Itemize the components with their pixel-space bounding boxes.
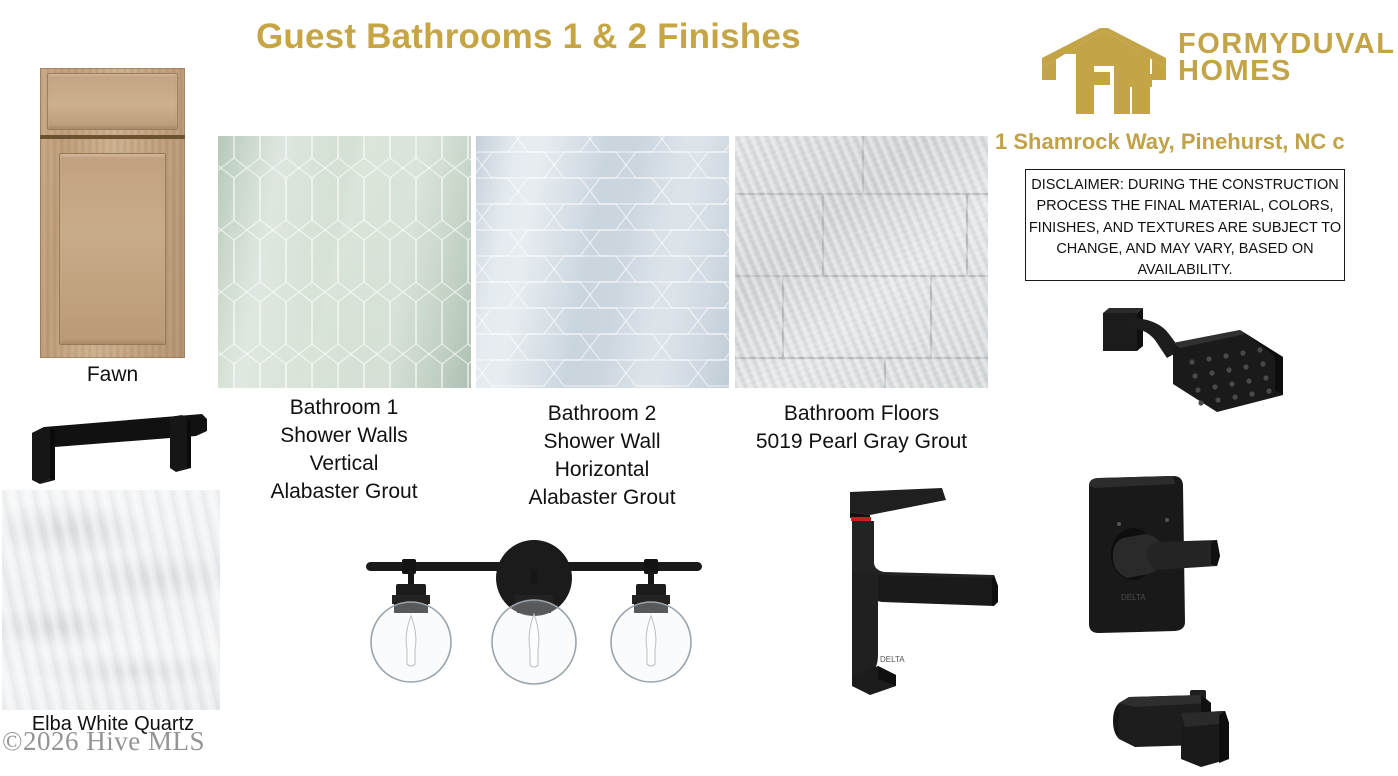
caption-line: Horizontal <box>492 456 712 484</box>
caption-line: Bathroom 1 <box>235 394 453 422</box>
cabinet-door-panel <box>59 153 166 345</box>
logo-line-1: FORMYDUVAL <box>1178 31 1395 58</box>
caption-line: Alabaster Grout <box>235 478 453 506</box>
floor-tile-caption: Bathroom Floors 5019 Pearl Gray Grout <box>740 400 983 456</box>
property-address: 1 Shamrock Way, Pinehurst, NC c <box>995 129 1398 155</box>
caption-line: Vertical <box>235 450 453 478</box>
gray-floor-tile-sample <box>735 136 988 388</box>
green-picket-tile-sample <box>218 136 471 388</box>
house-fh-logo-icon <box>1040 28 1168 116</box>
cabinet-label: Fawn <box>0 363 225 387</box>
cabinet-door-sample <box>40 68 185 358</box>
svg-text:DELTA: DELTA <box>880 655 905 664</box>
shower-valve-trim-fixture: DELTA <box>1075 472 1250 640</box>
logo-wordmark: FORMYDUVAL HOMES <box>1178 31 1395 85</box>
caption-line: Alabaster Grout <box>492 484 712 512</box>
disclaimer-text: DISCLAIMER: DURING THE CONSTRUCTION PROC… <box>1025 175 1345 282</box>
caption-line: Bathroom Floors <box>740 400 983 428</box>
red-accent-stripe <box>851 517 871 521</box>
mls-watermark: ©2026 Hive MLS <box>2 726 205 757</box>
page-title: Guest Bathrooms 1 & 2 Finishes <box>256 18 876 57</box>
quartz-countertop-sample <box>2 490 220 710</box>
caption-line: Bathroom 2 <box>492 400 712 428</box>
logo-line-2: HOMES <box>1178 58 1395 85</box>
cabinet-pull-sample <box>10 400 220 488</box>
shower-head-fixture <box>1085 300 1300 425</box>
blue-picket-tile-sample <box>476 136 729 388</box>
tile-gloss-sheen <box>476 136 729 388</box>
tub-spout-fixture <box>1105 683 1290 776</box>
quartz-veining-texture <box>2 490 220 710</box>
vanity-light-fixture <box>348 540 720 700</box>
company-logo: FORMYDUVAL HOMES <box>1040 25 1390 120</box>
three-light-vanity-icon <box>366 540 702 684</box>
matte-black-bar-pull-icon <box>32 414 207 484</box>
caption-line: Shower Walls <box>235 422 453 450</box>
single-handle-faucet-icon: DELTA <box>850 488 998 695</box>
caption-line: 5019 Pearl Gray Grout <box>740 428 983 456</box>
shower-valve-trim-icon: DELTA <box>1089 476 1220 633</box>
cabinet-reveal-line <box>40 135 185 139</box>
stone-texture <box>735 136 988 388</box>
tub-spout-with-diverter-icon <box>1113 690 1229 767</box>
cabinet-drawer-front <box>47 73 178 130</box>
tile-gloss-sheen <box>218 136 471 388</box>
green-tile-caption: Bathroom 1 Shower Walls Vertical Alabast… <box>235 394 453 506</box>
svg-text:DELTA: DELTA <box>1121 593 1146 602</box>
blue-tile-caption: Bathroom 2 Shower Wall Horizontal Alabas… <box>492 400 712 512</box>
square-shower-head-icon <box>1103 308 1283 412</box>
caption-line: Shower Wall <box>492 428 712 456</box>
bathroom-faucet-fixture: DELTA <box>822 480 1042 702</box>
